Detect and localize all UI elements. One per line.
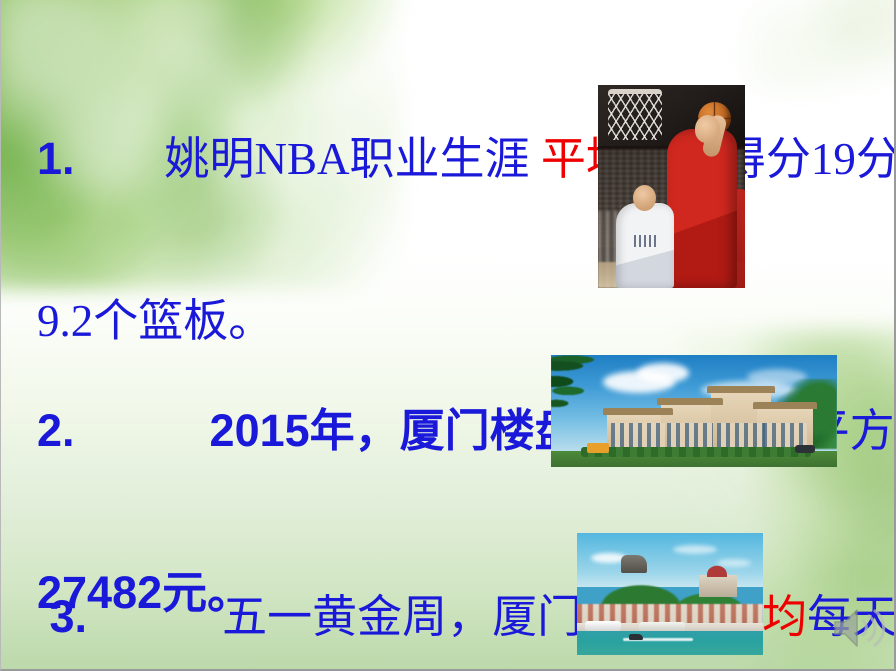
villa-roof	[657, 398, 723, 405]
basketball-hoop-icon	[608, 89, 662, 140]
basketball-photo	[598, 85, 745, 288]
colonial-building	[699, 575, 737, 597]
hedge	[581, 447, 811, 457]
cloud	[637, 363, 689, 383]
ferry-boat	[585, 621, 621, 631]
presentation-slide: 1. 姚明NBA职业生涯 平均每场得分19分， 9.2个篮板。 2. 2015年…	[0, 0, 896, 671]
villa-roof	[753, 402, 817, 409]
speaker-icon[interactable]	[829, 604, 887, 652]
statement-3-number: 3.	[37, 591, 87, 642]
car	[795, 445, 815, 453]
statement-3-indent	[87, 592, 222, 642]
sea-water	[577, 631, 763, 655]
statement-1-number: 1.	[37, 133, 75, 184]
sunlight-rock	[621, 555, 647, 573]
jersey-number	[634, 235, 656, 247]
bus	[587, 443, 609, 453]
player-head	[695, 115, 720, 143]
statement-2-number: 2.	[37, 405, 75, 456]
palm-leaves	[551, 355, 617, 433]
real-estate-photo	[551, 355, 837, 467]
statement-3-line-1: 3. 五一黄金周，厦门鼓浪屿平均每天	[37, 590, 896, 644]
statement-1-indent	[75, 134, 165, 184]
player-red-jersey	[667, 129, 737, 288]
defender-head	[633, 185, 656, 211]
statement-3: 3. 五一黄金周，厦门鼓浪屿平均每天 迎客6.2万	[37, 482, 896, 671]
villa-roof	[707, 386, 775, 393]
villa-windows	[667, 423, 713, 449]
gulangyu-photo	[577, 533, 763, 655]
statement-1-before: 姚明NBA职业生涯	[165, 134, 541, 184]
statement-2-indent	[75, 406, 210, 456]
speedboat	[629, 634, 643, 640]
cloud	[673, 545, 717, 554]
villa-windows	[611, 423, 665, 449]
statement-1-line-1: 1. 姚明NBA职业生涯 平均每场得分19分，	[37, 132, 896, 186]
villa-windows	[717, 423, 765, 449]
